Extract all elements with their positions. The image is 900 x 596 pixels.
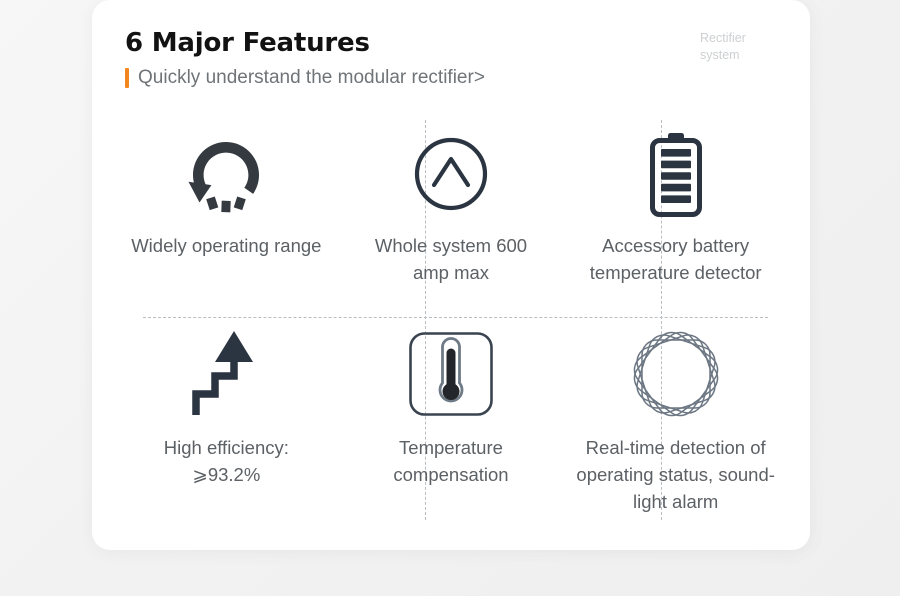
feature-caption: High efficiency: ⩾93.2%: [164, 434, 289, 488]
spirograph-monitor-icon: [633, 320, 719, 428]
subtitle-row: Quickly understand the modular rectifier…: [125, 66, 485, 90]
feature-cell-4: High efficiency: ⩾93.2%: [114, 320, 339, 522]
feature-caption: Widely operating range: [131, 232, 321, 259]
feature-cell-2: Whole system 600 amp max: [339, 118, 564, 320]
thermometer-icon: [408, 320, 494, 428]
accent-bar: [125, 68, 129, 88]
feature-cell-5: Temperature compensation: [339, 320, 564, 522]
feature-cell-3: Accessory battery temperature detector: [563, 118, 788, 320]
battery-full-icon: [646, 118, 706, 230]
feature-caption: Accessory battery temperature detector: [590, 232, 762, 286]
page-root: 6 Major Features Quickly understand the …: [0, 0, 900, 596]
features-grid: Widely operating range Whole system 600 …: [114, 118, 788, 522]
stairs-up-arrow-icon: [191, 320, 261, 428]
rotation-range-icon: [182, 118, 270, 230]
feature-caption: Whole system 600 amp max: [375, 232, 527, 286]
corner-watermark: Rectifier system: [700, 30, 774, 64]
feature-cell-1: Widely operating range: [114, 118, 339, 320]
circle-chevron-up-icon: [411, 118, 491, 230]
feature-cell-6: Real-time detection of operating status,…: [563, 320, 788, 522]
page-title: 6 Major Features: [125, 26, 485, 60]
feature-caption: Temperature compensation: [393, 434, 508, 488]
page-subtitle: Quickly understand the modular rectifier…: [138, 66, 485, 90]
features-card: 6 Major Features Quickly understand the …: [92, 0, 810, 550]
feature-caption: Real-time detection of operating status,…: [576, 434, 775, 515]
card-header: 6 Major Features Quickly understand the …: [125, 26, 485, 90]
